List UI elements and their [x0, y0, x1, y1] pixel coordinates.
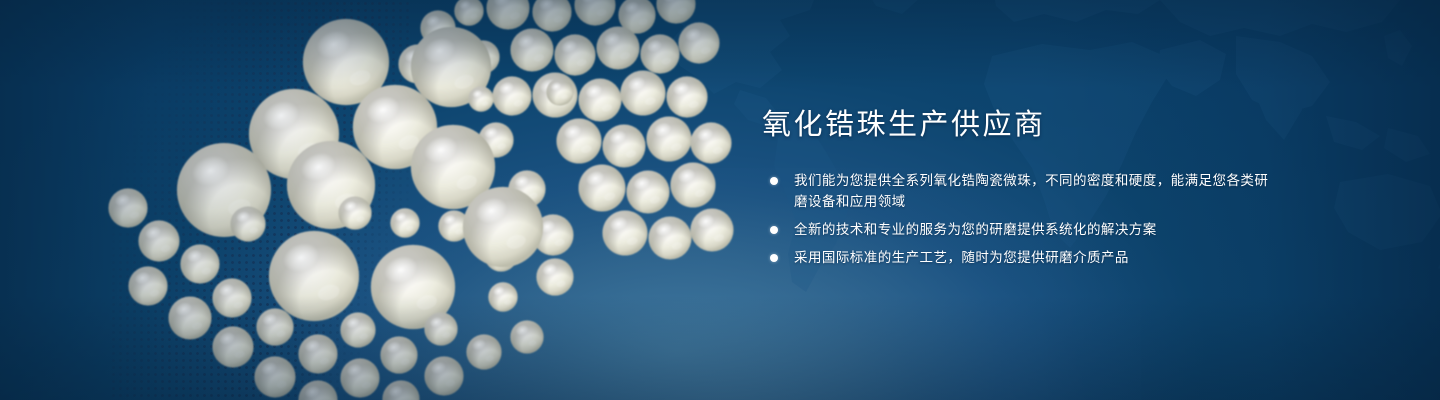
banner-headline: 氧化锆珠生产供应商	[762, 108, 1282, 142]
banner-bullet-item: 我们能为您提供全系列氧化锆陶瓷微珠，不同的密度和硬度，能满足您各类研磨设备和应用…	[762, 170, 1282, 212]
banner-bullet-text: 我们能为您提供全系列氧化锆陶瓷微珠，不同的密度和硬度，能满足您各类研磨设备和应用…	[794, 173, 1268, 209]
bullet-dot-icon	[770, 226, 778, 234]
bullet-dot-icon	[770, 177, 778, 185]
banner-bullet-item: 采用国际标准的生产工艺，随时为您提供研磨介质产品	[762, 247, 1282, 268]
bullet-dot-icon	[770, 254, 778, 262]
hero-banner: 氧化锆珠生产供应商 我们能为您提供全系列氧化锆陶瓷微珠，不同的密度和硬度，能满足…	[0, 0, 1440, 400]
banner-bullet-text: 全新的技术和专业的服务为您的研磨提供系统化的解决方案	[794, 222, 1157, 237]
banner-bullet-text: 采用国际标准的生产工艺，随时为您提供研磨介质产品	[794, 250, 1129, 265]
banner-copy: 氧化锆珠生产供应商 我们能为您提供全系列氧化锆陶瓷微珠，不同的密度和硬度，能满足…	[762, 108, 1282, 268]
banner-bullet-item: 全新的技术和专业的服务为您的研磨提供系统化的解决方案	[762, 219, 1282, 240]
banner-bullet-list: 我们能为您提供全系列氧化锆陶瓷微珠，不同的密度和硬度，能满足您各类研磨设备和应用…	[762, 170, 1282, 268]
